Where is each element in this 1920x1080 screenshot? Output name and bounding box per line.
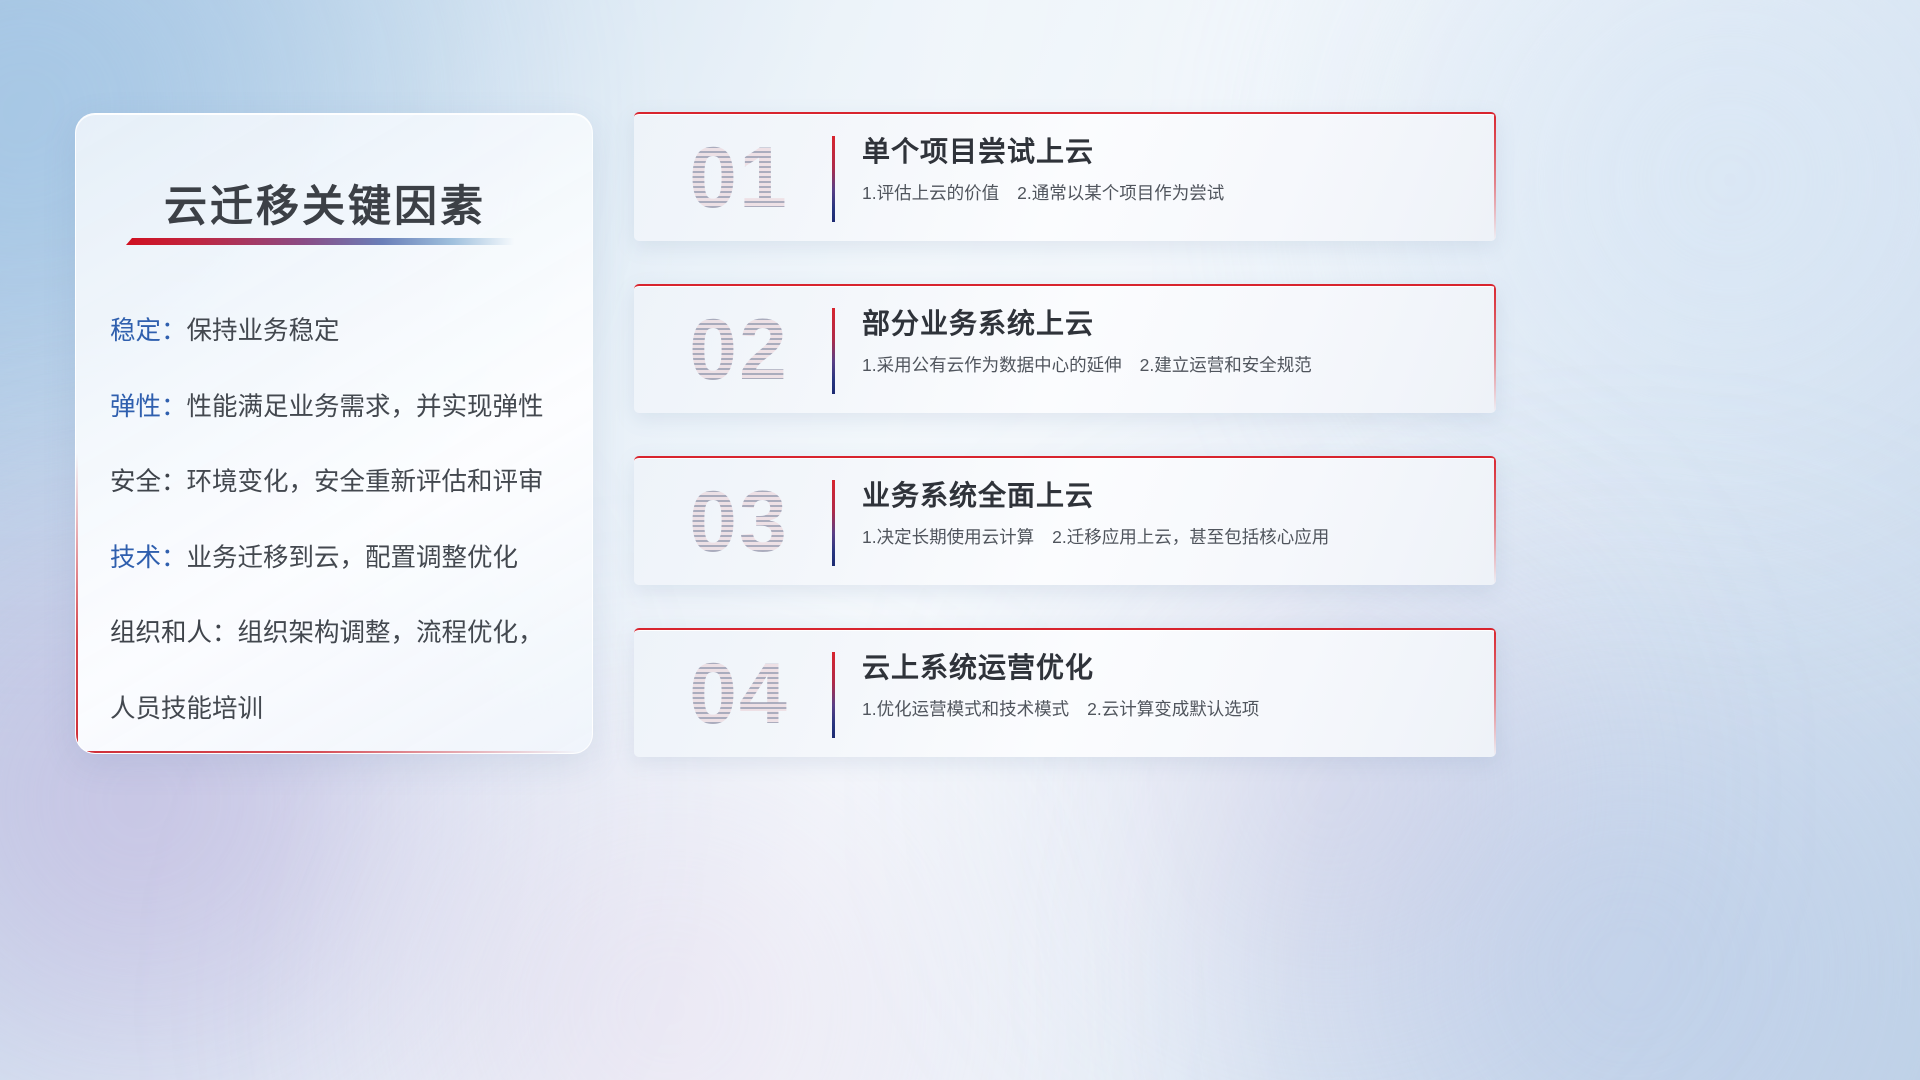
stage-title: 单个项目尝试上云 bbox=[862, 134, 1472, 169]
factor-value: 环境变化，安全重新评估和评审 bbox=[187, 468, 544, 496]
stage-description: 1.优化运营模式和技术模式2.云计算变成默认选项 bbox=[862, 698, 1472, 721]
factor-value: 组织架构调整，流程优化， bbox=[238, 619, 544, 647]
stage-divider-bar bbox=[832, 308, 835, 394]
stage-description-part-1: 1.优化运营模式和技术模式 bbox=[862, 699, 1069, 719]
stage-card-body: 单个项目尝试上云 1.评估上云的价值2.通常以某个项目作为尝试 bbox=[862, 134, 1472, 205]
stage-title: 云上系统运营优化 bbox=[862, 650, 1472, 685]
stage-description-part-1: 1.采用公有云作为数据中心的延伸 bbox=[862, 355, 1122, 375]
factor-label: 弹性： bbox=[110, 393, 187, 421]
factor-value: 性能满足业务需求，并实现弹性 bbox=[187, 393, 544, 421]
list-item: 组织和人：组织架构调整，流程优化， bbox=[110, 621, 568, 647]
stage-description-part-2: 2.云计算变成默认选项 bbox=[1087, 699, 1259, 719]
stage-description: 1.决定长期使用云计算2.迁移应用上云，甚至包括核心应用 bbox=[862, 526, 1472, 549]
stage-divider-bar bbox=[832, 652, 835, 738]
factor-label: 组织和人： bbox=[110, 619, 238, 647]
stage-description: 1.采用公有云作为数据中心的延伸2.建立运营和安全规范 bbox=[862, 354, 1472, 377]
list-item: 安全：环境变化，安全重新评估和评审 bbox=[110, 470, 568, 496]
stage-card-list: 01 01 单个项目尝试上云 1.评估上云的价值2.通常以某个项目作为尝试 02… bbox=[634, 112, 1496, 757]
stage-number: 01 bbox=[664, 126, 814, 230]
stage-card-01[interactable]: 01 01 单个项目尝试上云 1.评估上云的价值2.通常以某个项目作为尝试 bbox=[634, 112, 1496, 241]
stage-description-part-1: 1.评估上云的价值 bbox=[862, 183, 999, 203]
stage-description-part-2: 2.通常以某个项目作为尝试 bbox=[1017, 183, 1224, 203]
stage-card-02[interactable]: 02 02 部分业务系统上云 1.采用公有云作为数据中心的延伸2.建立运营和安全… bbox=[634, 284, 1496, 413]
stage-divider-bar bbox=[832, 136, 835, 222]
factor-label: 稳定： bbox=[110, 317, 187, 345]
stage-card-03[interactable]: 03 03 业务系统全面上云 1.决定长期使用云计算2.迁移应用上云，甚至包括核… bbox=[634, 456, 1496, 585]
list-item: 技术：业务迁移到云，配置调整优化 bbox=[110, 546, 568, 572]
stage-card-04[interactable]: 04 04 云上系统运营优化 1.优化运营模式和技术模式2.云计算变成默认选项 bbox=[634, 628, 1496, 757]
stage-number: 02 bbox=[664, 298, 814, 402]
stage-title: 业务系统全面上云 bbox=[862, 478, 1472, 513]
stage-divider-bar bbox=[832, 480, 835, 566]
stage-card-body: 部分业务系统上云 1.采用公有云作为数据中心的延伸2.建立运营和安全规范 bbox=[862, 306, 1472, 377]
factor-label: 技术： bbox=[110, 544, 187, 572]
stage-description: 1.评估上云的价值2.通常以某个项目作为尝试 bbox=[862, 182, 1472, 205]
list-item: 稳定：保持业务稳定 bbox=[110, 319, 568, 345]
factor-value: 保持业务稳定 bbox=[187, 317, 340, 345]
stage-card-body: 业务系统全面上云 1.决定长期使用云计算2.迁移应用上云，甚至包括核心应用 bbox=[862, 478, 1472, 549]
key-factors-list: 稳定：保持业务稳定 弹性：性能满足业务需求，并实现弹性 安全：环境变化，安全重新… bbox=[110, 319, 568, 722]
stage-title: 部分业务系统上云 bbox=[862, 306, 1472, 341]
stage-description-part-2: 2.迁移应用上云，甚至包括核心应用 bbox=[1052, 527, 1329, 547]
factor-value: 业务迁移到云，配置调整优化 bbox=[187, 544, 519, 572]
stage-description-part-1: 1.决定长期使用云计算 bbox=[862, 527, 1034, 547]
title-underline-rule bbox=[126, 238, 514, 245]
stage-description-part-2: 2.建立运营和安全规范 bbox=[1140, 355, 1312, 375]
factor-label: 安全： bbox=[110, 468, 187, 496]
slide-stage: 云迁移关键因素 稳定：保持业务稳定 弹性：性能满足业务需求，并实现弹性 安全：环… bbox=[0, 0, 1920, 1080]
factor-value-continued: 人员技能培训 bbox=[110, 697, 568, 723]
stage-number: 03 bbox=[664, 470, 814, 574]
page-title: 云迁移关键因素 bbox=[164, 172, 486, 234]
stage-card-body: 云上系统运营优化 1.优化运营模式和技术模式2.云计算变成默认选项 bbox=[862, 650, 1472, 721]
stage-number: 04 bbox=[664, 642, 814, 746]
list-item: 弹性：性能满足业务需求，并实现弹性 bbox=[110, 395, 568, 421]
key-factors-panel: 云迁移关键因素 稳定：保持业务稳定 弹性：性能满足业务需求，并实现弹性 安全：环… bbox=[75, 113, 593, 754]
